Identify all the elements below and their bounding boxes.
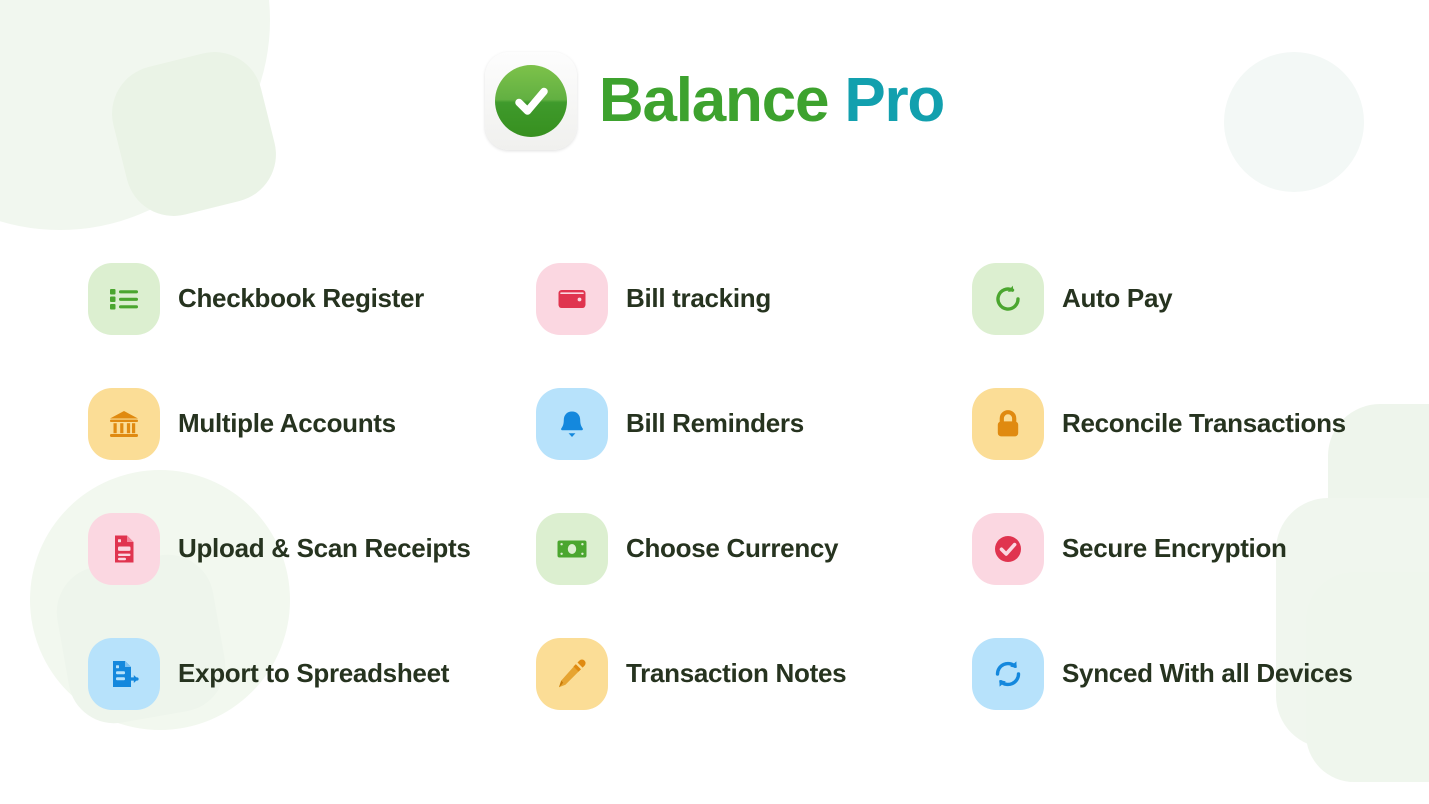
list-icon [88,263,160,335]
feature-label: Choose Currency [626,533,838,564]
feature-item-auto-pay[interactable]: Auto Pay [972,236,1348,361]
wallet-icon [536,263,608,335]
feature-item-transaction-notes[interactable]: Transaction Notes [536,611,972,736]
banknote-icon [536,513,608,585]
feature-item-checkbook-register[interactable]: Checkbook Register [88,236,536,361]
file-export-icon [88,638,160,710]
bell-icon [536,388,608,460]
feature-label: Secure Encryption [1062,533,1287,564]
brand-header: Balance Pro [0,52,1429,150]
lock-icon [972,388,1044,460]
receipt-icon [88,513,160,585]
feature-item-multiple-accounts[interactable]: Multiple Accounts [88,361,536,486]
feature-item-reconcile-transactions[interactable]: Reconcile Transactions [972,361,1348,486]
feature-item-bill-tracking[interactable]: Bill tracking [536,236,972,361]
feature-grid: Checkbook Register Bill tracking [88,236,1348,736]
feature-label: Auto Pay [1062,283,1172,314]
feature-label: Reconcile Transactions [1062,408,1346,439]
brand-name-primary: Balance [599,66,828,135]
feature-item-secure-encryption[interactable]: Secure Encryption [972,486,1348,611]
feature-label: Export to Spreadsheet [178,658,449,689]
page-title: Balance Pro [599,70,944,132]
feature-label: Checkbook Register [178,283,424,314]
feature-showcase-page: Balance Pro Checkbook Register [0,0,1429,804]
check-circle-icon [972,513,1044,585]
feature-item-upload-scan-receipts[interactable]: Upload & Scan Receipts [88,486,536,611]
feature-item-bill-reminders[interactable]: Bill Reminders [536,361,972,486]
feature-label: Bill tracking [626,283,771,314]
feature-label: Bill Reminders [626,408,804,439]
feature-label: Transaction Notes [626,658,846,689]
feature-label: Multiple Accounts [178,408,396,439]
sync-icon [972,638,1044,710]
logo-disc [495,65,567,137]
refresh-icon [972,263,1044,335]
feature-label: Synced With all Devices [1062,658,1353,689]
pencil-icon [536,638,608,710]
feature-label: Upload & Scan Receipts [178,533,470,564]
bank-icon [88,388,160,460]
feature-item-choose-currency[interactable]: Choose Currency [536,486,972,611]
check-circle-app-icon [485,52,577,150]
feature-item-export-to-spreadsheet[interactable]: Export to Spreadsheet [88,611,536,736]
brand-name-secondary: Pro [844,66,944,135]
feature-item-synced-with-all-devices[interactable]: Synced With all Devices [972,611,1348,736]
